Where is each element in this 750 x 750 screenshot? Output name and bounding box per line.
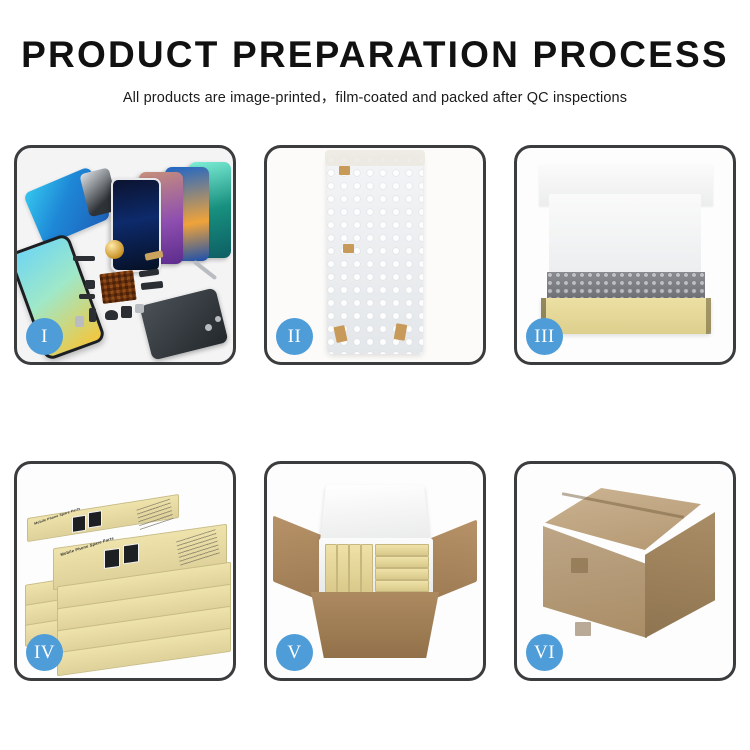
phone-thumbnail-icon — [104, 548, 120, 569]
gold-coil-icon — [105, 240, 124, 259]
phone-thumbnail-icon — [88, 510, 102, 528]
box-text-lines — [136, 499, 173, 531]
panel-badge-4: IV — [26, 634, 63, 671]
process-panel-3: III — [514, 145, 736, 365]
page-header: PRODUCT PREPARATION PROCESS All products… — [0, 0, 750, 107]
process-panel-4: Mobile Phone Spare Parts Mobile Phone Sp… — [14, 461, 236, 681]
panel-badge-3: III — [526, 318, 563, 355]
yellow-box-row — [337, 544, 349, 594]
part-icon — [135, 304, 144, 313]
bag-fold-icon — [325, 150, 425, 166]
part-icon — [89, 308, 96, 322]
process-panel-grid: I II III Mobile Phone Sp — [0, 145, 750, 681]
part-icon — [141, 281, 164, 290]
yellow-box-row — [325, 544, 337, 594]
panel-badge-6: VI — [526, 634, 563, 671]
process-panel-1: I — [14, 145, 236, 365]
yellow-box-row — [349, 544, 361, 594]
process-panel-2: II — [264, 145, 486, 365]
panel-badge-5: V — [276, 634, 313, 671]
foam-sheet-icon — [549, 194, 701, 272]
panel-badge-1: I — [26, 318, 63, 355]
part-icon — [79, 294, 95, 299]
process-panel-5: V — [264, 461, 486, 681]
phone-thumbnail-icon — [72, 515, 86, 533]
tape-icon — [343, 244, 354, 253]
yellow-box-base-icon — [541, 298, 711, 334]
part-icon — [139, 269, 160, 278]
chip-grid-icon — [99, 270, 136, 304]
screw-icon — [205, 324, 212, 331]
screw-icon — [215, 316, 221, 322]
carton-front-icon — [311, 592, 439, 658]
panel-badge-2: II — [276, 318, 313, 355]
page-title: PRODUCT PREPARATION PROCESS — [0, 36, 750, 73]
part-icon — [75, 316, 84, 327]
yellow-box-row — [361, 544, 373, 594]
process-panel-6: VI — [514, 461, 736, 681]
foam-lid-icon — [320, 485, 431, 545]
part-icon — [105, 310, 118, 320]
box-text-lines — [176, 529, 220, 566]
yellow-box-row — [375, 568, 429, 580]
phone-back-housing-icon — [139, 287, 228, 360]
tape-mark-icon — [571, 558, 588, 573]
page-subtitle: All products are image-printed，film-coat… — [0, 86, 750, 107]
part-icon — [121, 306, 132, 318]
part-icon — [73, 256, 95, 261]
phone-thumbnail-icon — [123, 543, 139, 564]
bubble-wrap-bag-icon — [327, 156, 423, 354]
bubble-wrap-fill-icon — [547, 272, 705, 298]
carton-flap-left-icon — [273, 515, 325, 602]
part-icon — [85, 280, 95, 289]
tape-icon — [339, 166, 350, 175]
yellow-box-row — [375, 580, 429, 592]
yellow-box-row — [375, 556, 429, 568]
yellow-box-row — [375, 544, 429, 556]
tape-mark-icon — [575, 622, 591, 636]
